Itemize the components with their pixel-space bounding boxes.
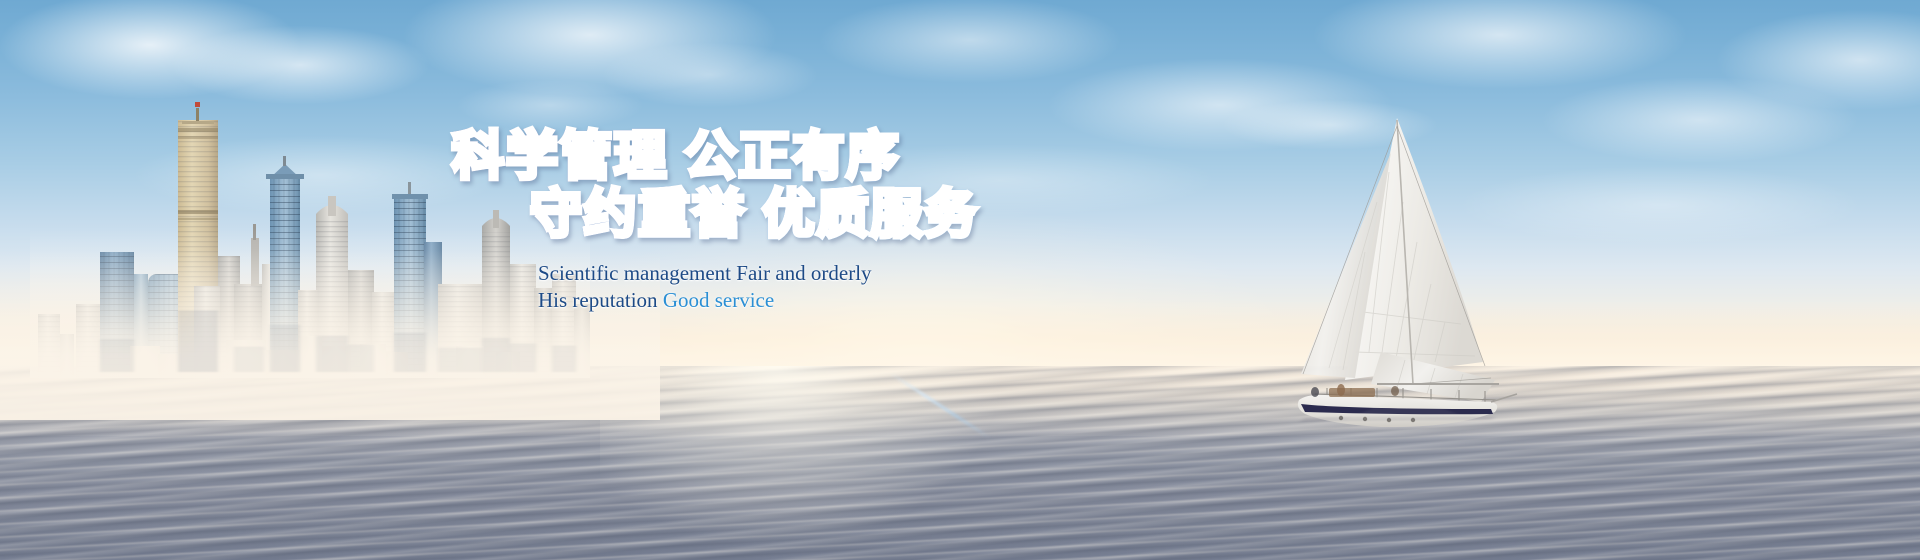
sky-background	[0, 0, 1920, 372]
sea-background	[0, 366, 1920, 560]
hero-banner: 科学管理 公正有序 守约重誉 优质服务 Scientific managemen…	[0, 0, 1920, 560]
sun-reflection-path	[600, 366, 1020, 560]
